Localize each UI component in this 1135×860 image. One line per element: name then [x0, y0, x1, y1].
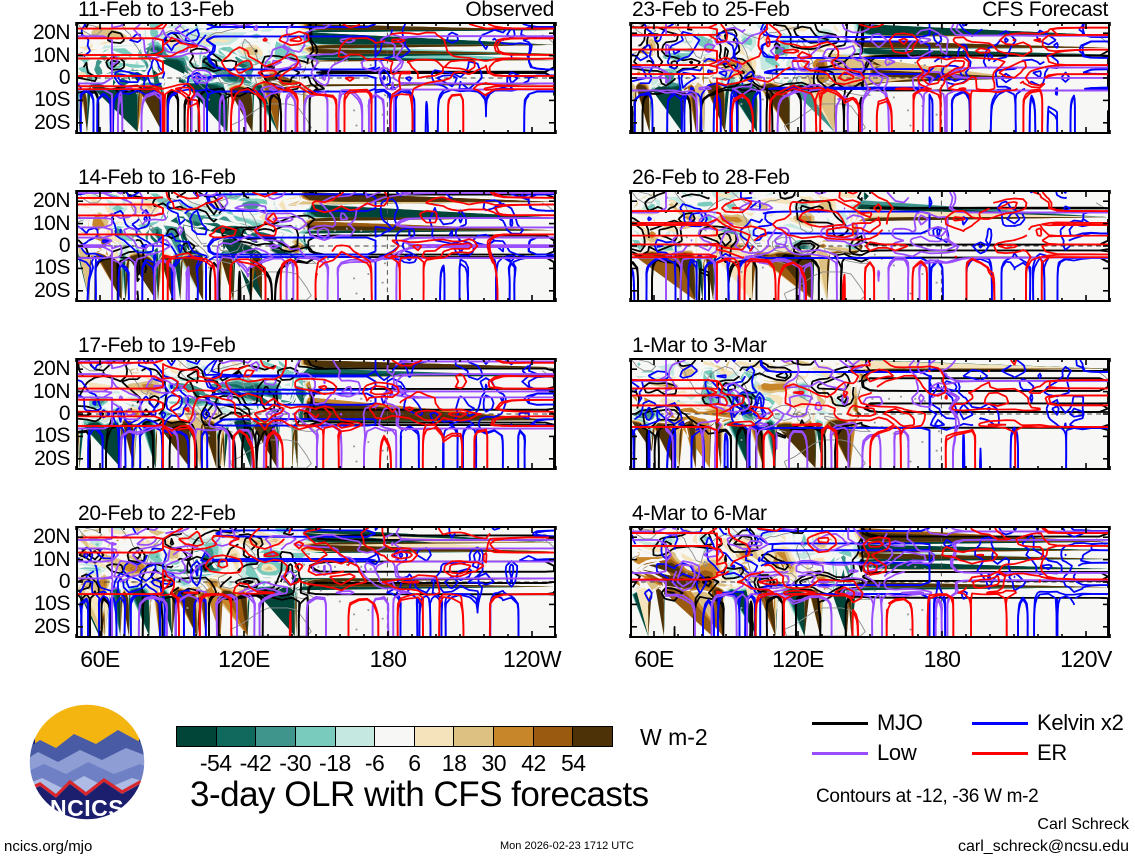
y-axis-label: 10S: [34, 88, 70, 112]
colorbar-tick-label: 18: [442, 750, 467, 777]
y-axis-label: 20S: [34, 279, 70, 303]
colorbar-swatch: [573, 727, 612, 746]
y-axis-label: 10N: [33, 380, 70, 404]
y-axis-label: 10N: [33, 548, 70, 572]
map-area: [630, 190, 1110, 302]
y-axis-label: 0: [59, 66, 70, 90]
map-area: [630, 358, 1110, 470]
x-axis-label: 120E: [218, 646, 270, 673]
panel-title: 1-Mar to 3-Mar: [632, 334, 767, 358]
panel-title: 17-Feb to 19-Feb: [78, 334, 235, 358]
y-axis-label: 20S: [34, 111, 70, 135]
x-axis-label: 120E: [772, 646, 824, 673]
x-axis-label: 180: [370, 646, 407, 673]
legend-item-low: Low: [812, 740, 972, 766]
map-area: [76, 190, 556, 302]
legend-line-low: [812, 752, 868, 755]
y-axis-label: 0: [59, 570, 70, 594]
panel-title: 14-Feb to 16-Feb: [78, 166, 235, 190]
y-axis-label: 20N: [33, 357, 70, 381]
colorbar-tick-label: 54: [561, 750, 586, 777]
colorbar-swatch: [296, 727, 336, 746]
colorbar-tick-label: 42: [521, 750, 546, 777]
wave-legend: MJO Kelvin x2 Low ER: [812, 708, 1132, 768]
colorbar-swatch: [415, 727, 455, 746]
colorbar-tick-label: -6: [365, 750, 384, 777]
colorbar-tick-label: 6: [408, 750, 420, 777]
colorbar-tick-label: 30: [482, 750, 507, 777]
y-axis-label: 0: [59, 234, 70, 258]
panel-title: 23-Feb to 25-Feb: [632, 0, 789, 22]
colorbar-tick-label: -30: [279, 750, 311, 777]
x-axis-label: 120V: [1060, 646, 1112, 673]
colorbar-tick-label: -18: [319, 750, 351, 777]
map-area: [76, 22, 556, 134]
site-url: ncics.org/mjo: [4, 838, 92, 855]
y-axis-label: 20N: [33, 189, 70, 213]
colorbar-swatch: [336, 727, 376, 746]
x-axis-label: 120W: [503, 646, 561, 673]
map-area: [76, 526, 556, 638]
map-panel-7: 1-Mar to 3-Mar: [630, 358, 1110, 470]
map-panel-1: 11-Feb to 13-FebObserved20N10N010S20S: [76, 22, 556, 134]
svg-text:NCICS: NCICS: [50, 795, 124, 821]
legend-label-mjo: MJO: [877, 710, 923, 736]
y-axis-label: 10N: [33, 44, 70, 68]
y-axis-label: 0: [59, 402, 70, 426]
y-axis-label: 20S: [34, 615, 70, 639]
colorbar-tick-label: -54: [200, 750, 232, 777]
colorbar-swatch: [454, 727, 494, 746]
colorbar-swatch: [534, 727, 574, 746]
author-name: Carl Schreck: [1037, 816, 1129, 834]
y-axis-label: 10S: [34, 424, 70, 448]
map-panel-6: 26-Feb to 28-Feb: [630, 190, 1110, 302]
panel-title: 11-Feb to 13-Feb: [78, 0, 234, 22]
map-panel-8: 4-Mar to 6-Mar60E120E180120V: [630, 526, 1110, 638]
column-header-right: CFS Forecast: [982, 0, 1108, 22]
legend-item-er: ER: [972, 740, 1132, 766]
y-axis-label: 10N: [33, 212, 70, 236]
colorbar-swatch: [256, 727, 296, 746]
colorbar-swatch: [494, 727, 534, 746]
column-header-left: Observed: [465, 0, 554, 22]
legend-label-er: ER: [1037, 740, 1067, 766]
colorbar-swatch: [177, 727, 217, 746]
x-axis-label: 180: [924, 646, 961, 673]
colorbar-swatch: [217, 727, 257, 746]
legend-line-kelvin: [972, 722, 1028, 725]
timestamp: Mon 2026-02-23 1712 UTC: [500, 840, 634, 852]
panel-title: 4-Mar to 6-Mar: [632, 502, 767, 526]
x-axis-label: 60E: [80, 646, 119, 673]
legend-label-kelvin: Kelvin x2: [1037, 710, 1124, 736]
map-area: [630, 526, 1110, 638]
colorbar-units-label: W m-2: [640, 724, 708, 751]
legend-item-mjo: MJO: [812, 710, 972, 736]
legend-line-mjo: [812, 722, 868, 725]
legend-label-low: Low: [877, 740, 916, 766]
x-axis-label: 60E: [634, 646, 673, 673]
y-axis-label: 10S: [34, 592, 70, 616]
colorbar: [176, 726, 613, 747]
legend-line-er: [972, 752, 1028, 755]
colorbar-tick-label: -42: [240, 750, 272, 777]
page-title: 3-day OLR with CFS forecasts: [190, 775, 649, 815]
author-email: carl_schreck@ncsu.edu: [958, 838, 1129, 856]
map-panel-5: 23-Feb to 25-FebCFS Forecast: [630, 22, 1110, 134]
ncics-logo: NCICS: [22, 700, 152, 830]
map-panel-4: 20-Feb to 22-Feb20N10N010S20S60E120E1801…: [76, 526, 556, 638]
contour-note: Contours at -12, -36 W m-2: [816, 786, 1038, 808]
y-axis-label: 10S: [34, 256, 70, 280]
y-axis-label: 20S: [34, 447, 70, 471]
y-axis-label: 20N: [33, 21, 70, 45]
panel-title: 20-Feb to 22-Feb: [78, 502, 235, 526]
map-panel-3: 17-Feb to 19-Feb20N10N010S20S: [76, 358, 556, 470]
legend-item-kelvin: Kelvin x2: [972, 710, 1132, 736]
colorbar-swatch: [375, 727, 415, 746]
panel-title: 26-Feb to 28-Feb: [632, 166, 789, 190]
map-area: [630, 22, 1110, 134]
map-panel-2: 14-Feb to 16-Feb20N10N010S20S: [76, 190, 556, 302]
map-area: [76, 358, 556, 470]
y-axis-label: 20N: [33, 525, 70, 549]
